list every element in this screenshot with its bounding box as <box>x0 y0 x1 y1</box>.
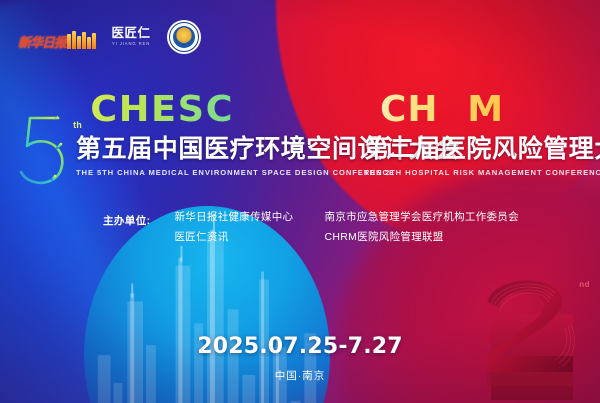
association-seal-logo <box>167 20 201 54</box>
chrm-part-1: CH <box>380 92 439 128</box>
event-date-block: 2025.07.25-7.27 中国·南京 <box>0 336 600 383</box>
left-conference-block: th CHESC 第五届中国医疗环境空间设计大会 THE 5TH CHINA M… <box>0 92 352 190</box>
right-conference-block: CHRM 第二届医院风险管理大会 THE 2TH HOSPITAL RISK M… <box>364 92 600 177</box>
chrm-flipped-r: R <box>439 92 468 128</box>
yijiangren-cn-label: 医匠仁 <box>112 27 151 40</box>
organizer-item: 新华日报社健康传媒中心 <box>175 212 311 223</box>
conference-titles: th CHESC 第五届中国医疗环境空间设计大会 THE 5TH CHINA M… <box>0 92 600 190</box>
organizers-section: 主办单位: 新华日报社健康传媒中心 医匠仁资讯 南京市应急管理学会医疗机构工作委… <box>103 212 519 242</box>
ribbon-nd-suffix: nd <box>579 280 590 289</box>
xinhua-daily-script: 新华日报 <box>18 36 66 49</box>
conference-poster: nd 新华日报 医匠仁 YI JIANG REN <box>0 0 600 403</box>
event-date: 2025.07.25-7.27 <box>0 336 600 358</box>
organizers-label: 主办单位: <box>103 212 151 242</box>
right-title-cn: 第二届医院风险管理大会 <box>364 135 600 163</box>
fifth-edition-numeral: th <box>10 108 72 190</box>
organizer-item: 医匠仁资讯 <box>175 232 311 243</box>
chrm-part-2: M <box>467 92 504 128</box>
seal-inner-emblem-icon <box>173 26 195 48</box>
chrm-acronym: CHRM <box>364 92 600 128</box>
sponsor-logo-bar: 新华日报 医匠仁 YI JIANG REN <box>18 20 201 54</box>
organizer-item: 南京市应急管理学会医疗机构工作委员会 <box>325 212 519 223</box>
organizers-column-2: 南京市应急管理学会医疗机构工作委员会 CHRM医院风险管理联盟 <box>325 212 519 242</box>
event-location: 中国·南京 <box>0 368 600 383</box>
xinhua-daily-bars-icon <box>67 31 96 49</box>
yijiangren-en-label: YI JIANG REN <box>112 42 151 46</box>
xinhua-daily-logo: 新华日报 <box>18 25 96 49</box>
organizer-item: CHRM医院风险管理联盟 <box>325 232 519 243</box>
right-title-en: THE 2TH HOSPITAL RISK MANAGEMENT CONFERE… <box>364 168 600 177</box>
organizers-column-1: 新华日报社健康传媒中心 医匠仁资讯 <box>175 212 311 242</box>
yijiangren-logo: 医匠仁 YI JIANG REN <box>112 27 151 46</box>
numeral-five-icon <box>10 108 72 190</box>
